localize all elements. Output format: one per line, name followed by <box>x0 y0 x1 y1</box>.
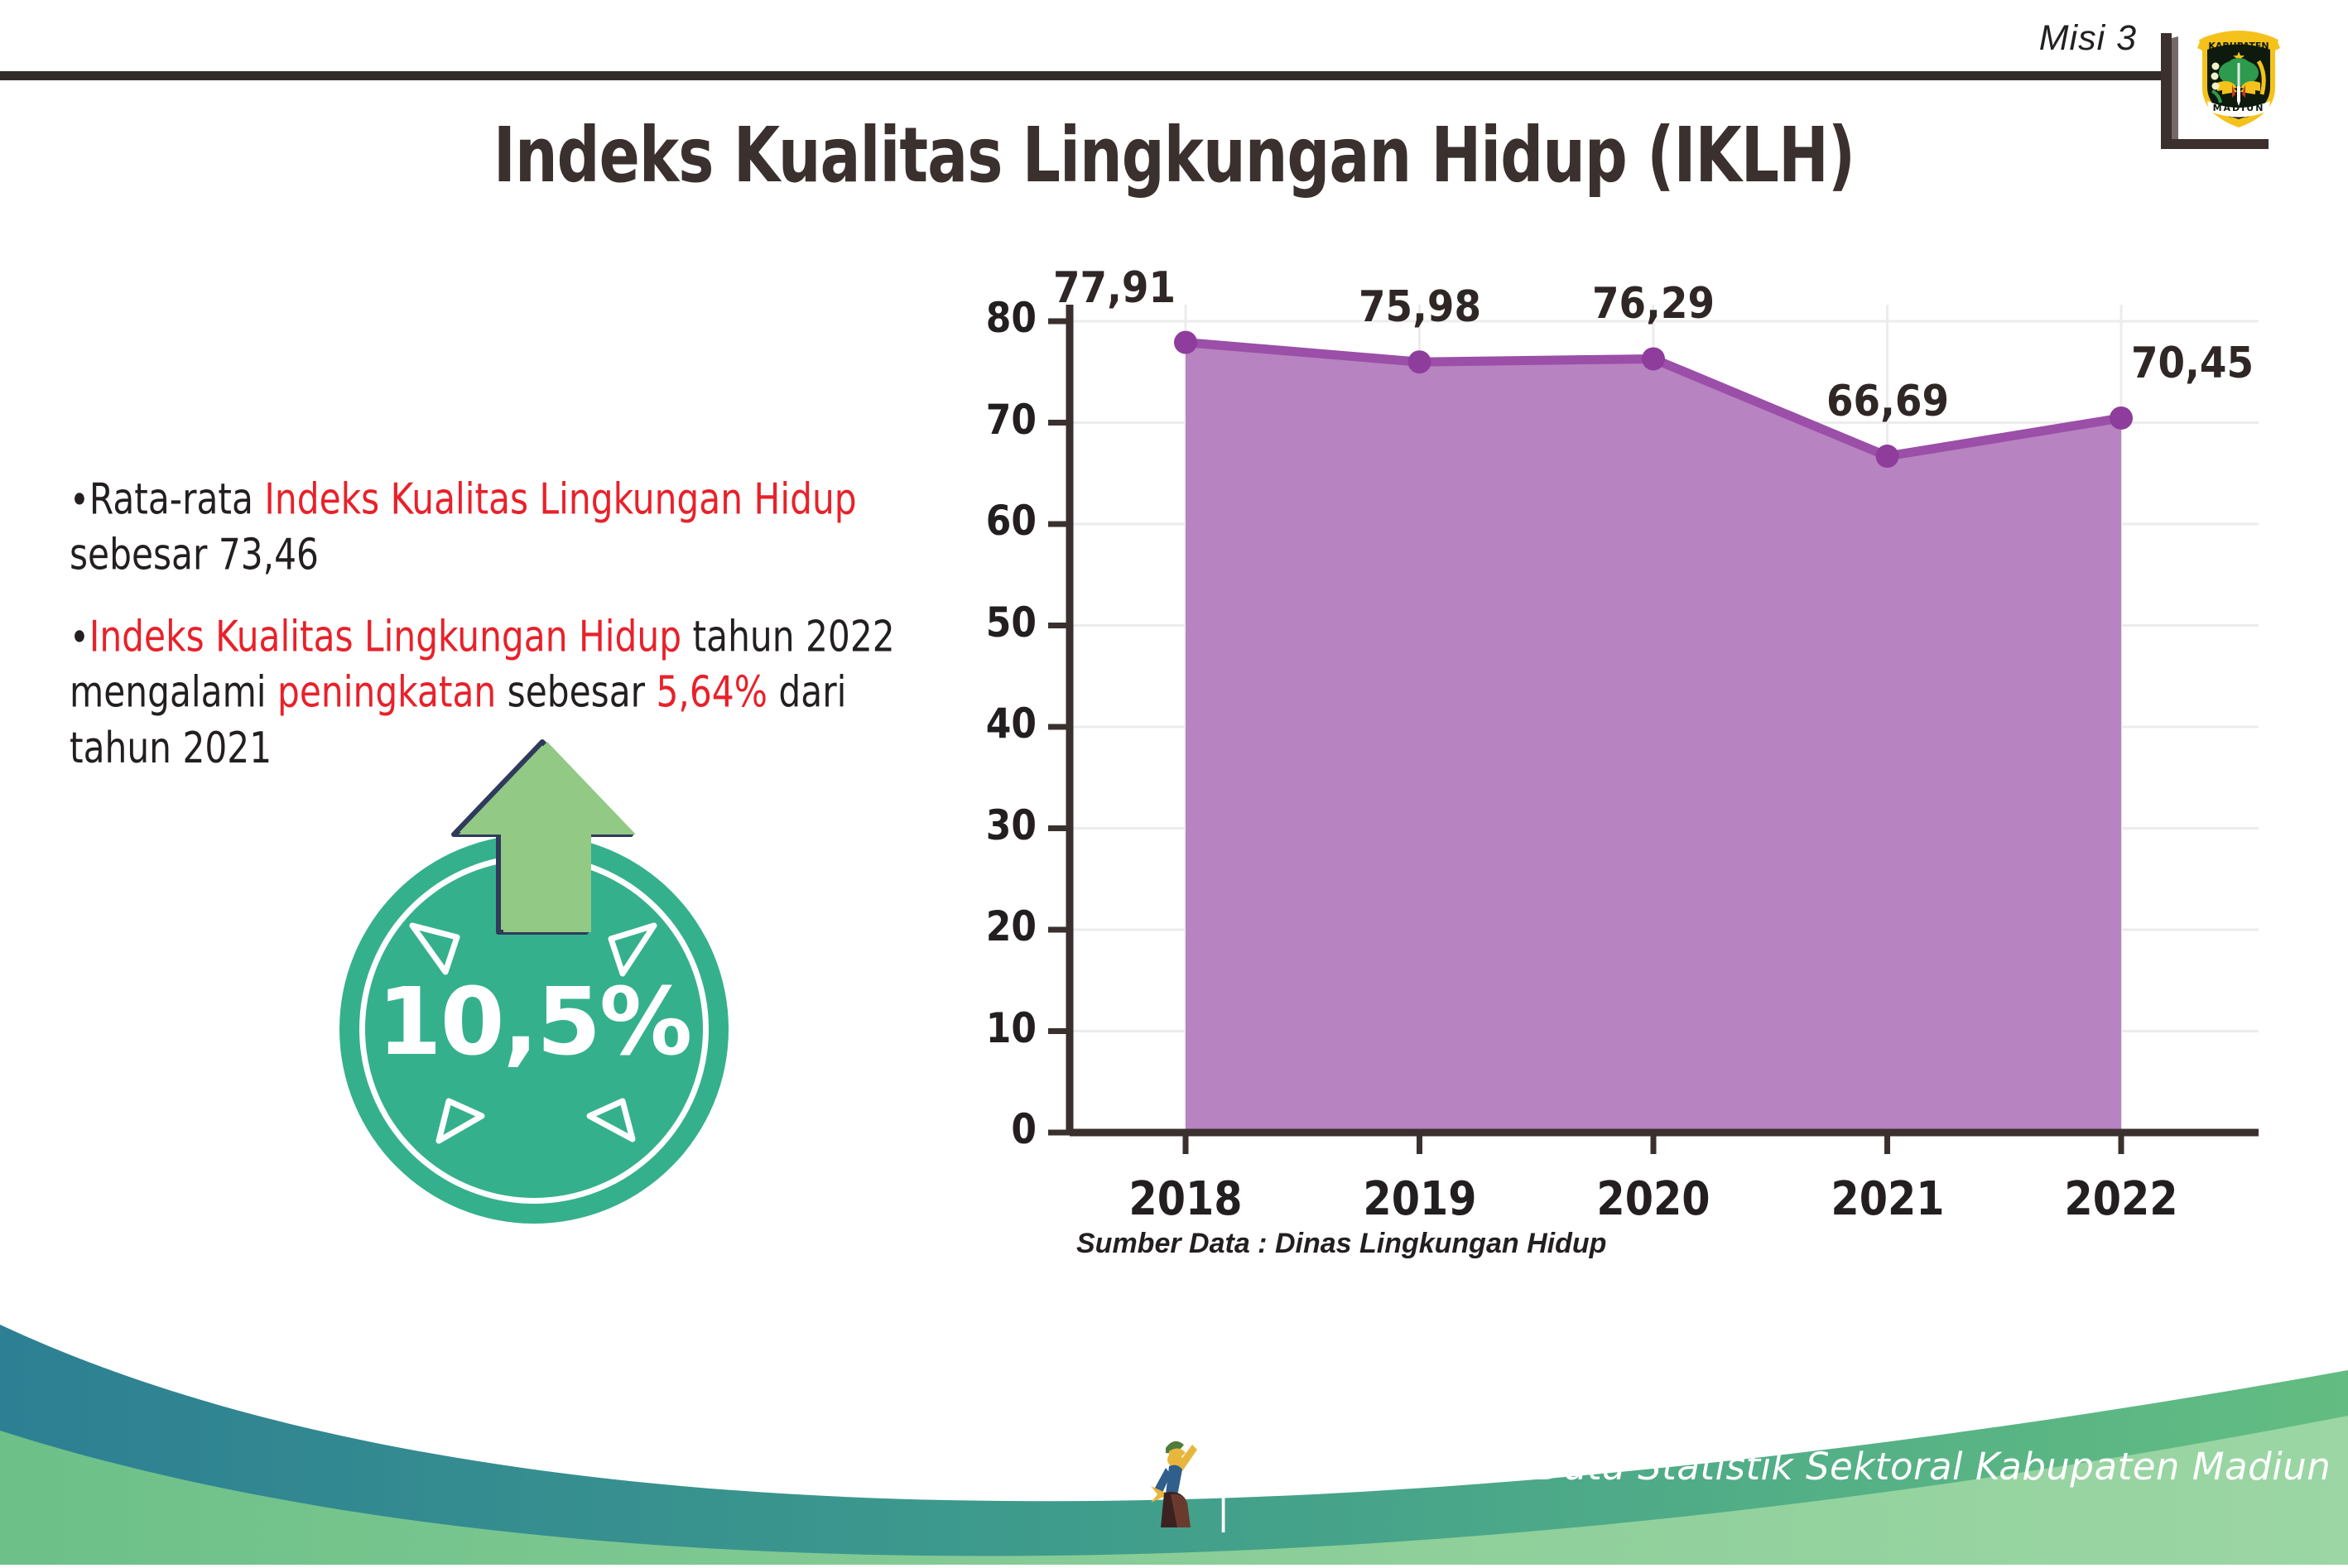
data-point-label: 76,29 <box>1557 279 1750 329</box>
bullet-1-seg-2: sebesar 73,46 <box>70 529 319 579</box>
badge-value: 10,5% <box>339 969 729 1076</box>
bullet-1-seg-0: Rata-rata <box>89 474 265 523</box>
chart-svg <box>977 298 2269 1192</box>
data-point-label: 66,69 <box>1791 377 1985 426</box>
y-axis-label: 20 <box>956 902 1037 950</box>
crest-top-label: KABUPATEN <box>2208 41 2269 51</box>
bullet-2-seg-4: 5,64% <box>657 666 767 716</box>
footer-caption: Media Infografis Data Statistik Sektoral… <box>1217 1445 2348 1532</box>
bullet-1-seg-1: Indeks Kualitas Lingkungan Hidup <box>264 474 856 523</box>
y-axis-label: 40 <box>956 700 1037 748</box>
data-point-label: 70,45 <box>2095 339 2289 388</box>
data-point-label: 75,98 <box>1323 282 1517 332</box>
y-axis-label: 0 <box>956 1105 1037 1153</box>
page-title: Indeks Kualitas Lingkungan Hidup (IKLH) <box>82 112 2265 200</box>
growth-badge: 10,5% <box>323 737 753 1200</box>
x-axis-label: 2021 <box>1803 1172 1970 1226</box>
bullet-marker: • <box>70 477 89 524</box>
area-fill <box>1186 343 2121 1133</box>
y-axis-label: 10 <box>956 1004 1037 1052</box>
data-point-label: 77,91 <box>1018 263 1211 313</box>
bullet-2-seg-2: peningkatan <box>277 666 496 716</box>
misi-label: Misi 3 <box>2039 18 2137 59</box>
bullet-marker: • <box>70 613 89 661</box>
source-note: Sumber Data : Dinas Lingkungan Hidup <box>1076 1228 1606 1260</box>
y-axis-label: 50 <box>956 599 1037 647</box>
bullet-item-1: •Rata-rata Indeks Kualitas Lingkungan Hi… <box>70 472 922 583</box>
bps-figure-logo-icon <box>1141 1435 1215 1534</box>
y-axis-label: 70 <box>956 396 1037 444</box>
x-axis-label: 2019 <box>1335 1172 1503 1226</box>
header-rule <box>0 71 2171 80</box>
y-axis-label: 60 <box>956 497 1037 545</box>
iklh-area-chart: 01020304050607080 20182019202020212022 7… <box>977 298 2269 1192</box>
y-axis-label: 30 <box>956 801 1037 849</box>
x-axis-label: 2020 <box>1570 1172 1737 1226</box>
x-axis-label: 2022 <box>2038 1172 2205 1226</box>
bullet-2-seg-0: Indeks Kualitas Lingkungan Hidup <box>89 611 681 661</box>
bullet-2-seg-3: sebesar <box>496 666 656 716</box>
x-axis-label: 2018 <box>1102 1172 1269 1226</box>
